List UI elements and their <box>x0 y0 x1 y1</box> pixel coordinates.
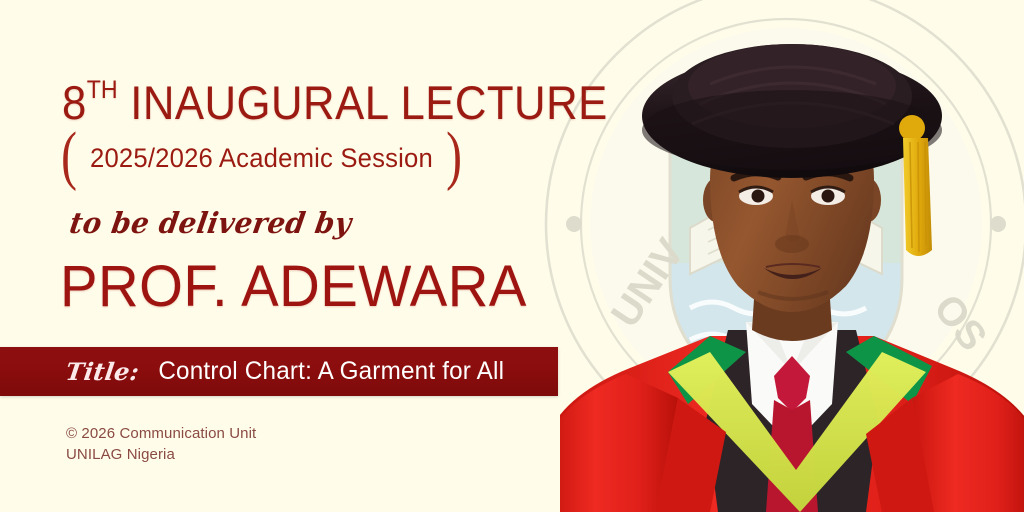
footer-line-1: © 2026 Communication Unit <box>66 423 256 444</box>
banner-text-column: 8TH INAUGURAL LECTURE ( 2025/2026 Academ… <box>0 0 570 512</box>
footer-credit: © 2026 Communication Unit UNILAG Nigeria <box>66 423 256 465</box>
footer-line-2: UNILAG Nigeria <box>66 444 256 465</box>
lecture-title-value: Control Chart: A Garment for All <box>158 357 504 386</box>
close-paren: ) <box>446 130 462 183</box>
headline-text: INAUGURAL LECTURE <box>118 76 608 129</box>
open-paren: ( <box>61 130 77 183</box>
session-text: 2025/2026 Academic Session <box>89 143 434 174</box>
headline-ordinal-suffix: TH <box>87 76 118 104</box>
speaker-portrait <box>560 0 1024 512</box>
lecture-title-label: Title: <box>64 357 141 386</box>
inaugural-lecture-banner: UNIV OS <box>0 0 1024 512</box>
speaker-name: PROF. ADEWARA <box>60 258 527 316</box>
lecture-title-bar: Title: Control Chart: A Garment for All <box>0 347 558 396</box>
page-title: 8TH INAUGURAL LECTURE <box>62 64 608 129</box>
delivered-by-label: to be delivered by <box>67 206 354 240</box>
session-line: ( 2025/2026 Academic Session ) <box>58 132 465 185</box>
